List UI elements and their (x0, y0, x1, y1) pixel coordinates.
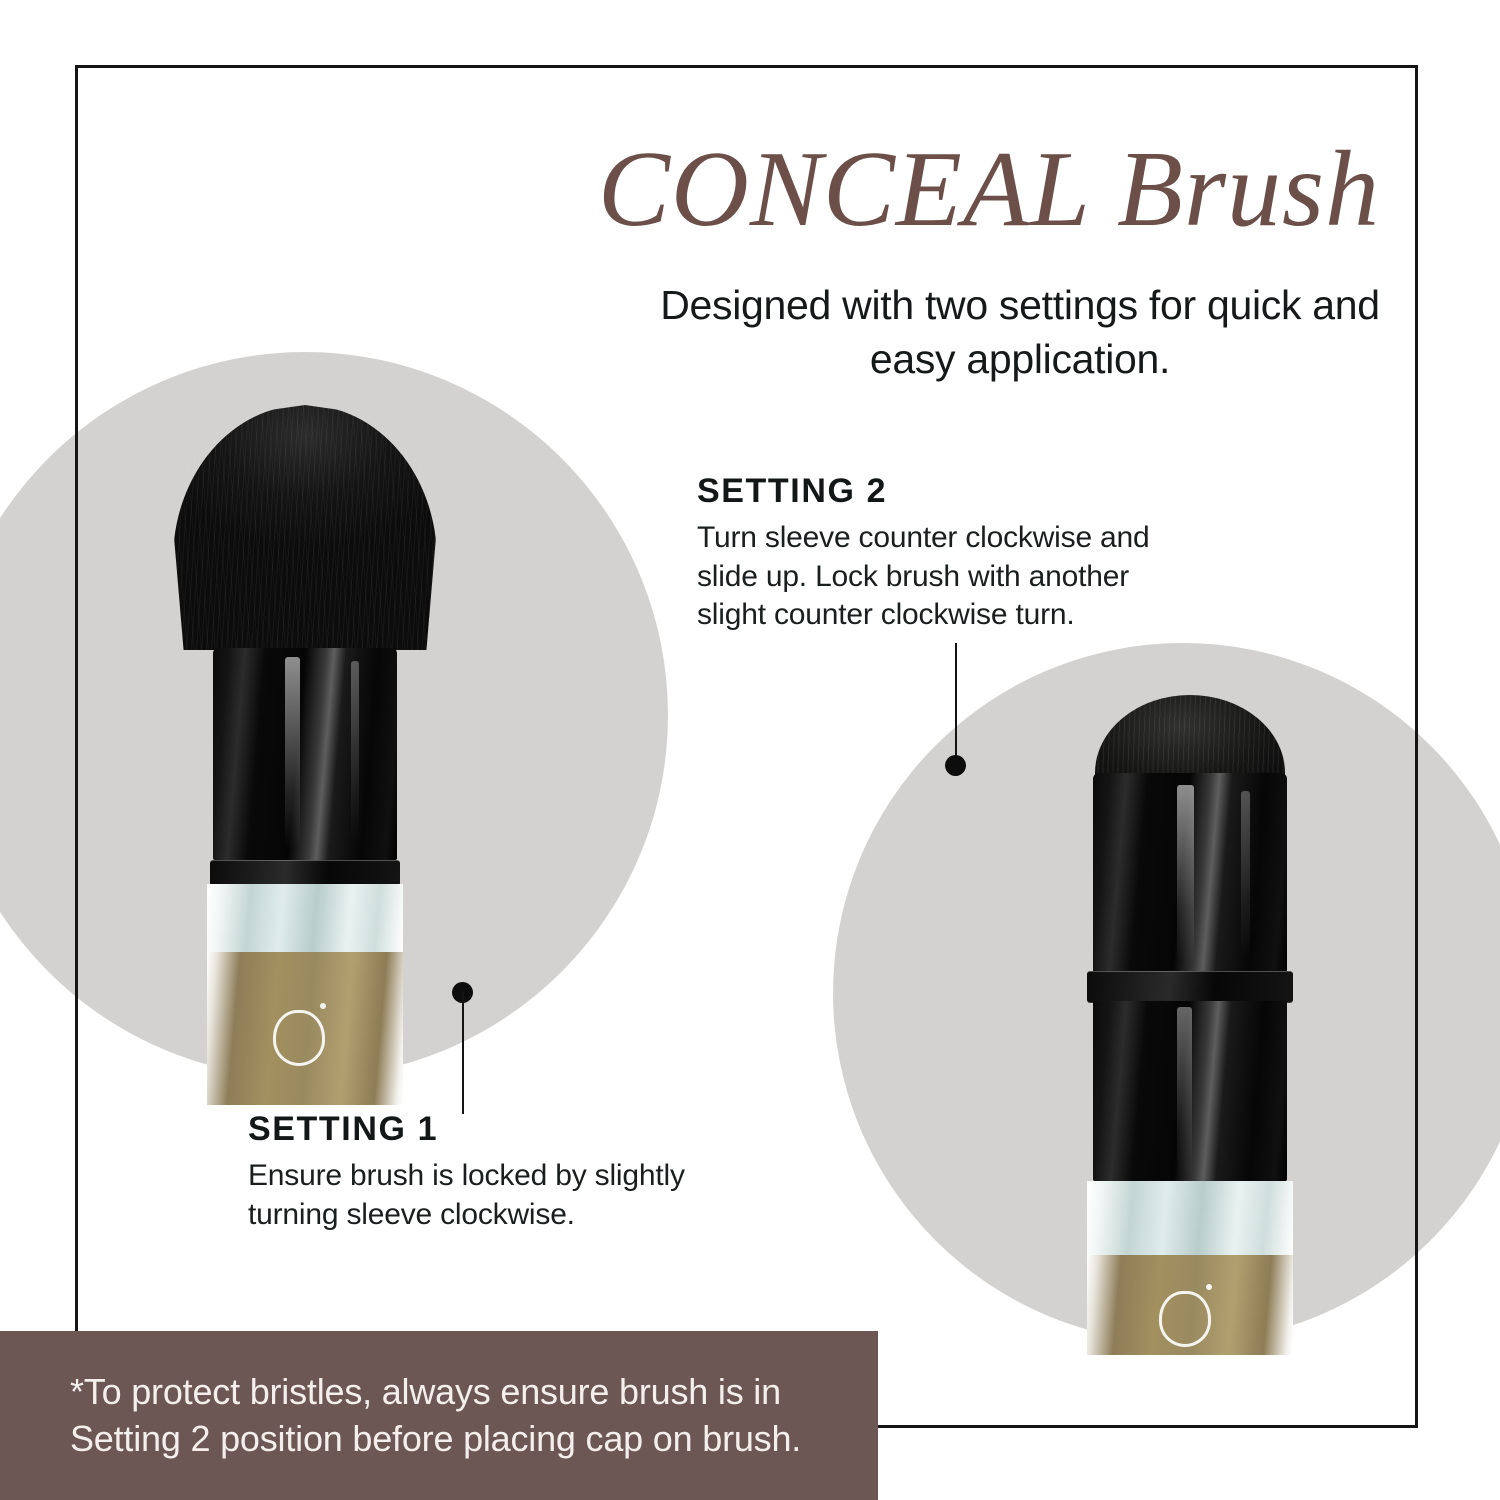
setting-1-body: Ensure brush is locked by slightly turni… (248, 1157, 768, 1234)
brush-sleeve-black (213, 648, 397, 860)
leader-line-setting-1 (462, 992, 464, 1114)
sleeve-highlight-secondary (351, 661, 359, 841)
page-subtitle: Designed with two settings for quick and… (660, 278, 1380, 386)
leader-line-setting-2 (955, 643, 957, 765)
sleeve-highlight (1177, 785, 1194, 963)
setting-1-heading: SETTING 1 (248, 1110, 768, 1149)
gold-base (207, 952, 403, 1105)
brush-dome-texture (1095, 695, 1285, 785)
title-secondary: Brush (1117, 130, 1380, 249)
title-primary: CONCEAL (598, 130, 1117, 249)
setting-2-body: Turn sleeve counter clockwise and slide … (697, 519, 1237, 635)
sleeve-highlight (285, 657, 300, 849)
footnote-text: *To protect bristles, always ensure brus… (0, 1369, 827, 1463)
sleeve-lower-highlight (1177, 1007, 1192, 1175)
footnote-bar: *To protect bristles, always ensure brus… (0, 1331, 878, 1500)
sleeve-highlight-secondary (1241, 791, 1250, 957)
product-image-setting-2 (1065, 695, 1315, 1355)
infographic-page: CONCEAL Brush Designed with two settings… (0, 0, 1500, 1500)
brush-bristle-texture (173, 405, 437, 655)
sleeve-lock-ring (210, 860, 400, 886)
page-title: CONCEAL Brush (420, 128, 1380, 252)
callout-setting-1: SETTING 1 Ensure brush is locked by slig… (248, 1110, 768, 1234)
leader-dot-setting-2 (945, 755, 966, 776)
setting-2-heading: SETTING 2 (697, 472, 1237, 511)
callout-setting-2: SETTING 2 Turn sleeve counter clockwise … (697, 472, 1237, 635)
product-image-setting-1 (165, 405, 445, 1105)
silver-band (207, 884, 403, 952)
silver-band (1087, 1181, 1293, 1255)
brand-logo-icon (1159, 1291, 1211, 1347)
sleeve-lock-ring (1087, 971, 1293, 1003)
gold-base (1087, 1255, 1293, 1355)
brand-logo-icon (273, 1010, 325, 1066)
